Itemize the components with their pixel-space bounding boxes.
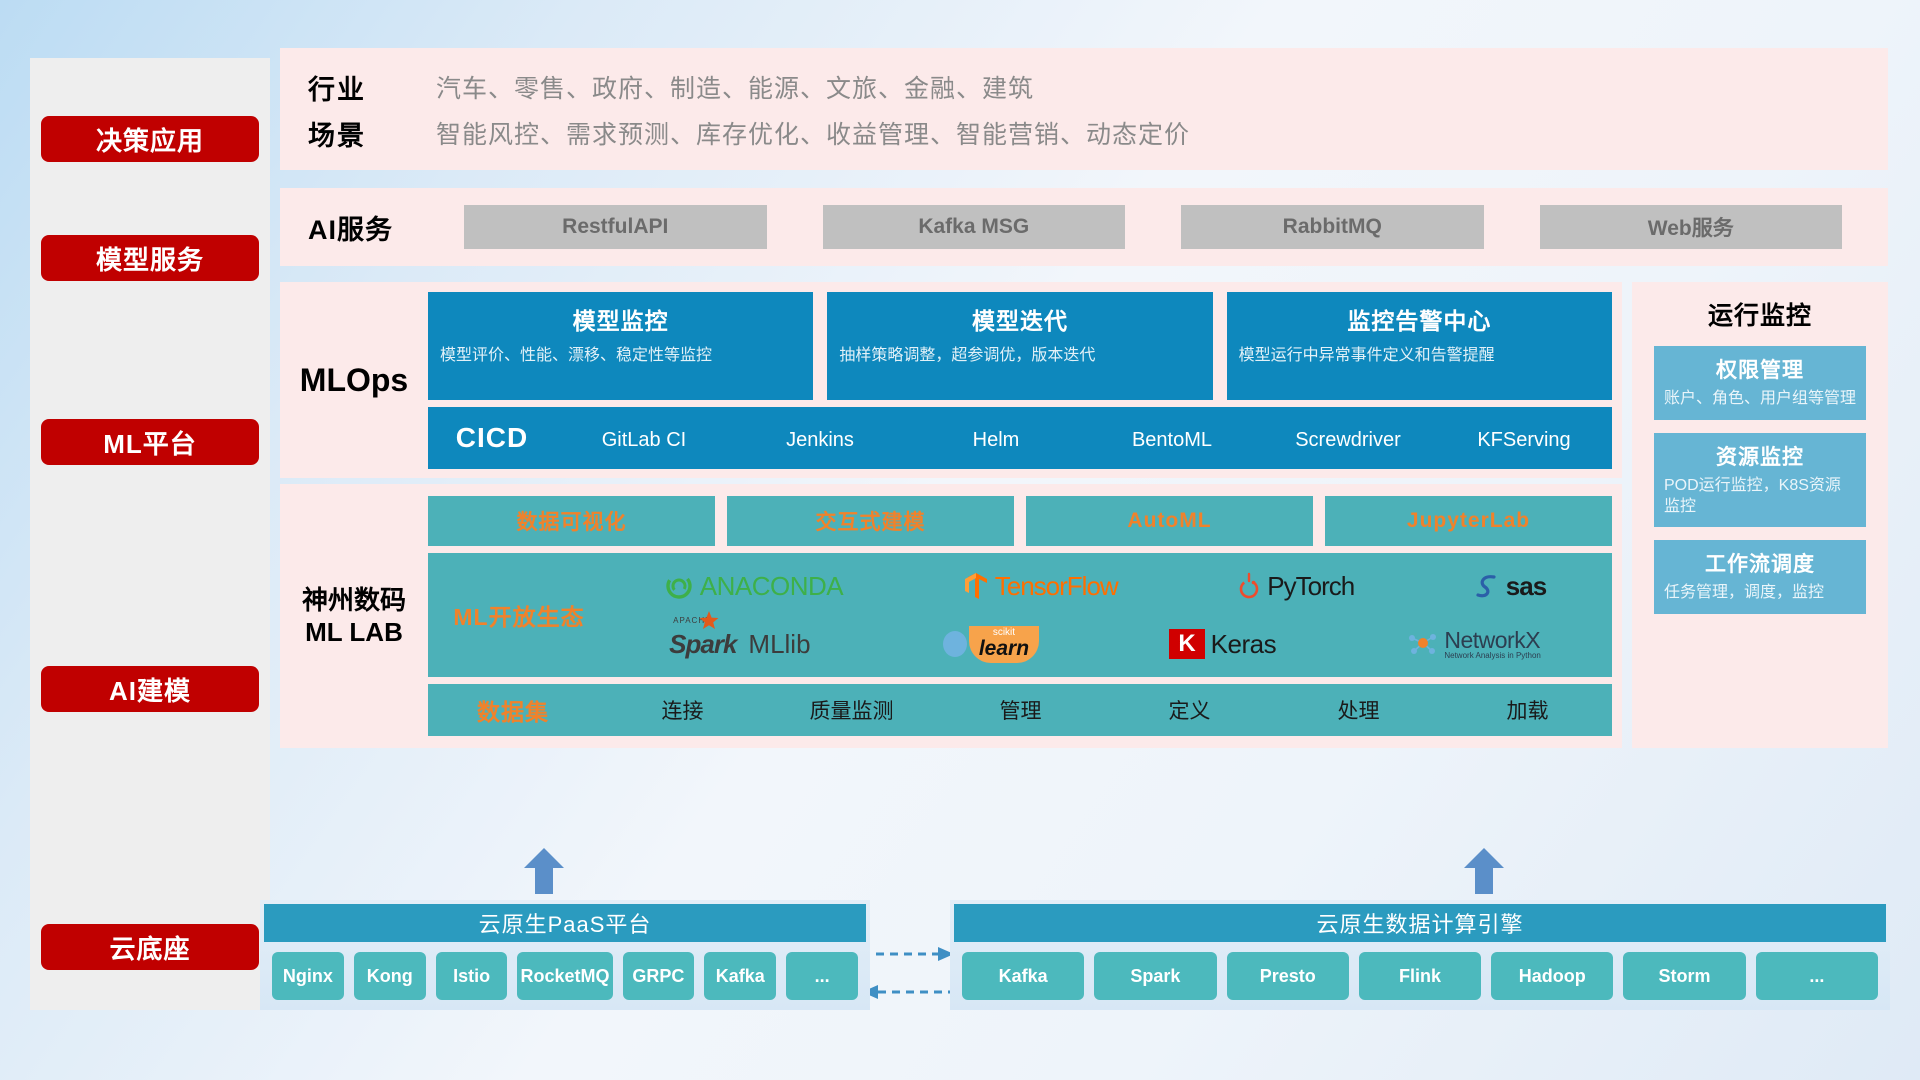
rail-item-label: ML平台: [103, 424, 197, 461]
rail-item-decision-app[interactable]: 决策应用: [41, 116, 259, 162]
paas-chip[interactable]: Istio: [436, 952, 508, 1000]
ml-lab-label: 神州数码 ML LAB: [280, 584, 428, 649]
pytorch-label: PyTorch: [1267, 571, 1354, 602]
cicd-label: CICD: [428, 422, 556, 454]
compute-chip[interactable]: Spark: [1094, 952, 1216, 1000]
card-desc: 任务管理，调度，监控: [1664, 583, 1856, 604]
card-desc: POD运行监控，K8S资源监控: [1664, 476, 1856, 518]
decision-application-band: 行业 汽车、零售、政府、制造、能源、文旅、金融、建筑 场景 智能风控、需求预测、…: [280, 48, 1888, 170]
ml-lab-tool-automl[interactable]: AutoML: [1026, 496, 1313, 546]
anaconda-icon: [664, 571, 694, 601]
keras-logo: K Keras: [1169, 629, 1276, 660]
rail-item-label: 决策应用: [96, 121, 204, 158]
cicd-bar: CICD GitLab CI Jenkins Helm BentoML Scre…: [428, 407, 1612, 469]
ai-service-chip[interactable]: RabbitMQ: [1181, 205, 1484, 249]
compute-chip-more[interactable]: ...: [1756, 952, 1878, 1000]
ecosystem-logo-row-bottom: APACHE Spark MLlib: [604, 616, 1606, 672]
rail-item-label: 云底座: [109, 929, 190, 966]
cicd-item[interactable]: Helm: [908, 426, 1084, 450]
dataset-item[interactable]: 连接: [598, 695, 767, 725]
card-desc: 抽样策略调整，超参调优，版本迭代: [839, 345, 1200, 367]
cicd-item[interactable]: GitLab CI: [556, 426, 732, 450]
keras-icon: K: [1169, 629, 1204, 659]
industry-label: 行业: [308, 68, 436, 107]
ml-lab-tool-list: 数据可视化 交互式建模 AutoML JupyterLab: [428, 496, 1612, 546]
compute-engine-title: 云原生数据计算引擎: [954, 904, 1886, 942]
ai-service-chip[interactable]: Web服务: [1540, 205, 1843, 249]
networkx-label: NetworkX: [1444, 629, 1541, 652]
card-title: 资源监控: [1664, 441, 1856, 471]
ecosystem-logo-row-top: ANACONDA TensorFlow: [604, 558, 1606, 614]
ai-service-band: AI服务 RestfulAPI Kafka MSG RabbitMQ Web服务: [280, 188, 1888, 266]
tensorflow-logo: TensorFlow: [963, 571, 1118, 602]
rail-item-ai-modeling[interactable]: AI建模: [41, 666, 259, 712]
dataset-label: 数据集: [428, 693, 598, 727]
cicd-item[interactable]: KFServing: [1436, 426, 1612, 450]
paas-chip[interactable]: Kong: [354, 952, 426, 1000]
ml-lab-tool-data-viz[interactable]: 数据可视化: [428, 496, 715, 546]
ai-service-chip[interactable]: Kafka MSG: [823, 205, 1126, 249]
dataset-item[interactable]: 定义: [1105, 695, 1274, 725]
ai-service-items: RestfulAPI Kafka MSG RabbitMQ Web服务: [436, 205, 1888, 249]
cicd-item[interactable]: BentoML: [1084, 426, 1260, 450]
rail-item-label: 模型服务: [96, 240, 204, 277]
networkx-wordmark: NetworkX Network Analysis in Python: [1444, 629, 1541, 660]
card-title: 权限管理: [1664, 354, 1856, 384]
rail-item-cloud-base[interactable]: 云底座: [41, 924, 259, 970]
compute-chip-list: Kafka Spark Presto Flink Hadoop Storm ..…: [954, 942, 1886, 1000]
pytorch-logo: PyTorch: [1237, 571, 1354, 602]
ml-lab-content: 数据可视化 交互式建模 AutoML JupyterLab ML开放生态 ANA…: [428, 488, 1622, 744]
keras-label: Keras: [1211, 629, 1276, 660]
mlops-card-alert-center[interactable]: 监控告警中心 模型运行中异常事件定义和告警提醒: [1227, 292, 1612, 400]
sas-label: sas: [1506, 571, 1546, 602]
monitoring-card-permission[interactable]: 权限管理 账户、角色、用户组等管理: [1654, 346, 1866, 420]
rail-item-model-service[interactable]: 模型服务: [41, 235, 259, 281]
ml-lab-band: 神州数码 ML LAB 数据可视化 交互式建模 AutoML JupyterLa…: [280, 484, 1622, 748]
cloud-native-data-compute-engine: 云原生数据计算引擎 Kafka Spark Presto Flink Hadoo…: [950, 900, 1890, 1010]
spark-star-icon: [699, 611, 719, 631]
cloud-native-paas-platform: 云原生PaaS平台 Nginx Kong Istio RocketMQ GRPC…: [260, 900, 870, 1010]
scikit-learn-wordmark: scikit learn: [969, 626, 1039, 663]
compute-chip[interactable]: Flink: [1359, 952, 1481, 1000]
card-title: 监控告警中心: [1239, 302, 1600, 336]
scenario-values: 智能风控、需求预测、库存优化、收益管理、智能营销、动态定价: [436, 115, 1190, 151]
left-rail: 决策应用 模型服务 ML平台 AI建模 云底座: [30, 58, 270, 1010]
ml-lab-label-en: ML LAB: [280, 616, 428, 649]
up-arrow-icon-compute: [1462, 848, 1506, 894]
paas-chip-list: Nginx Kong Istio RocketMQ GRPC Kafka ...: [264, 942, 866, 1000]
ml-lab-tool-interactive-modeling[interactable]: 交互式建模: [727, 496, 1014, 546]
runtime-monitoring-title: 运行监控: [1654, 296, 1866, 332]
dataset-row: 数据集 连接 质量监测 管理 定义 处理 加载: [428, 684, 1612, 736]
up-arrow-icon-paas: [522, 848, 566, 894]
compute-chip[interactable]: Presto: [1227, 952, 1349, 1000]
mlops-card-list: 模型监控 模型评价、性能、漂移、稳定性等监控 模型迭代 抽样策略调整，超参调优，…: [428, 292, 1612, 400]
compute-chip[interactable]: Storm: [1623, 952, 1745, 1000]
bidirectional-link-icon: [862, 940, 954, 1008]
ecosystem-logo-grid: ANACONDA TensorFlow: [604, 558, 1606, 672]
tensorflow-label: TensorFlow: [995, 571, 1118, 602]
spark-mllib-logo: APACHE Spark MLlib: [669, 629, 810, 660]
monitoring-card-resource[interactable]: 资源监控 POD运行监控，K8S资源监控: [1654, 433, 1866, 528]
mlops-label: MLOps: [280, 362, 428, 399]
scikit-label: scikit: [979, 628, 1029, 638]
card-title: 模型迭代: [839, 302, 1200, 336]
networkx-icon: [1406, 630, 1438, 658]
scikit-learn-logo: scikit learn: [941, 626, 1039, 663]
cicd-item[interactable]: Screwdriver: [1260, 426, 1436, 450]
spark-label: Spark: [669, 629, 736, 659]
ml-lab-tool-jupyterlab[interactable]: JupyterLab: [1325, 496, 1612, 546]
card-title: 工作流调度: [1664, 548, 1856, 578]
rail-item-ml-platform[interactable]: ML平台: [41, 419, 259, 465]
paas-chip-more[interactable]: ...: [786, 952, 858, 1000]
sas-icon: [1474, 572, 1500, 600]
rail-item-label: AI建模: [109, 671, 191, 708]
learn-label: learn: [979, 638, 1029, 659]
mlops-card-model-iteration[interactable]: 模型迭代 抽样策略调整，超参调优，版本迭代: [827, 292, 1212, 400]
spark-wordmark: APACHE Spark: [669, 629, 736, 660]
ai-service-label: AI服务: [308, 208, 436, 247]
scikit-blob-icon: [941, 630, 971, 658]
ml-open-ecosystem-label: ML开放生态: [434, 598, 604, 632]
industry-values: 汽车、零售、政府、制造、能源、文旅、金融、建筑: [436, 69, 1034, 105]
networkx-logo: NetworkX Network Analysis in Python: [1406, 629, 1541, 660]
paas-chip[interactable]: RocketMQ: [517, 952, 612, 1000]
paas-chip[interactable]: Nginx: [272, 952, 344, 1000]
dataset-item[interactable]: 质量监测: [767, 695, 936, 725]
ml-open-ecosystem: ML开放生态 ANACONDA: [428, 553, 1612, 677]
anaconda-label: ANACONDA: [700, 571, 843, 602]
mlops-content: 模型监控 模型评价、性能、漂移、稳定性等监控 模型迭代 抽样策略调整，超参调优，…: [428, 285, 1622, 476]
paas-chip[interactable]: Kafka: [704, 952, 776, 1000]
industry-row: 行业 汽车、零售、政府、制造、能源、文旅、金融、建筑: [308, 64, 1888, 110]
anaconda-logo: ANACONDA: [664, 571, 843, 602]
monitoring-card-workflow[interactable]: 工作流调度 任务管理，调度，监控: [1654, 540, 1866, 614]
card-desc: 模型评价、性能、漂移、稳定性等监控: [440, 345, 801, 367]
dataset-item[interactable]: 加载: [1443, 695, 1612, 725]
card-desc: 模型运行中异常事件定义和告警提醒: [1239, 345, 1600, 367]
cicd-item[interactable]: Jenkins: [732, 426, 908, 450]
mlops-card-model-monitoring[interactable]: 模型监控 模型评价、性能、漂移、稳定性等监控: [428, 292, 813, 400]
networkx-subtitle: Network Analysis in Python: [1444, 652, 1541, 660]
mllib-label: MLlib: [748, 629, 810, 660]
paas-chip[interactable]: GRPC: [623, 952, 695, 1000]
scenario-label: 场景: [308, 114, 436, 153]
pytorch-icon: [1237, 571, 1261, 601]
ai-service-chip[interactable]: RestfulAPI: [464, 205, 767, 249]
card-desc: 账户、角色、用户组等管理: [1664, 389, 1856, 410]
dataset-item[interactable]: 管理: [936, 695, 1105, 725]
tensorflow-icon: [963, 571, 989, 601]
ml-lab-label-cn: 神州数码: [280, 584, 428, 617]
sas-logo: sas: [1474, 571, 1546, 602]
compute-chip[interactable]: Hadoop: [1491, 952, 1613, 1000]
compute-chip[interactable]: Kafka: [962, 952, 1084, 1000]
mlops-band: MLOps 模型监控 模型评价、性能、漂移、稳定性等监控 模型迭代 抽样策略调整…: [280, 282, 1622, 478]
runtime-monitoring-panel: 运行监控 权限管理 账户、角色、用户组等管理 资源监控 POD运行监控，K8S资…: [1632, 282, 1888, 748]
scenario-row: 场景 智能风控、需求预测、库存优化、收益管理、智能营销、动态定价: [308, 110, 1888, 156]
dataset-item[interactable]: 处理: [1274, 695, 1443, 725]
paas-platform-title: 云原生PaaS平台: [264, 904, 866, 942]
card-title: 模型监控: [440, 302, 801, 336]
